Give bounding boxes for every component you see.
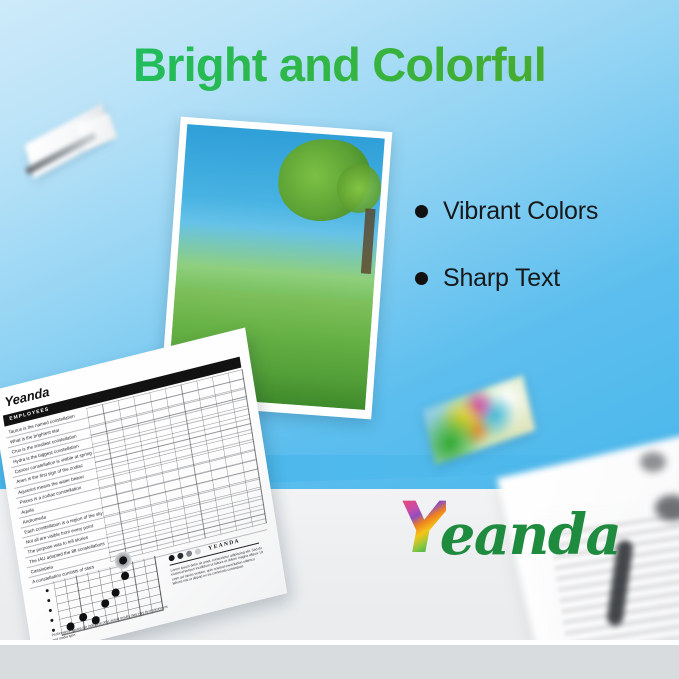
feature-item-sharp-text: Sharp Text (415, 264, 665, 293)
bullet-dot-icon (415, 205, 428, 218)
feature-label: Vibrant Colors (443, 197, 598, 226)
tree-trunk-shape (361, 208, 376, 274)
blurred-paper-mark-3 (640, 452, 666, 472)
chart-y-tick (46, 589, 49, 593)
swatch-dot-1 (168, 554, 175, 561)
desk-front-edge (0, 645, 679, 679)
brand-logo-wordmark: eanda (440, 504, 621, 566)
chart-y-tick (49, 609, 52, 613)
chart-y-tick (47, 599, 50, 603)
feature-label: Sharp Text (443, 264, 560, 293)
brand-logo: Y eanda (398, 497, 620, 566)
swatch-dot-4 (194, 548, 201, 555)
swatch-dot-2 (177, 552, 184, 559)
product-banner: Bright and Colorful (0, 0, 679, 679)
feature-list: Vibrant Colors Sharp Text (415, 197, 665, 331)
swatch-dot-3 (186, 550, 193, 557)
page-title: Bright and Colorful (0, 35, 679, 95)
feature-item-vibrant-colors: Vibrant Colors (415, 197, 665, 226)
chart-y-tick (50, 619, 53, 623)
brand-logo-initial: Y (398, 497, 446, 559)
bullet-dot-icon (415, 272, 428, 285)
